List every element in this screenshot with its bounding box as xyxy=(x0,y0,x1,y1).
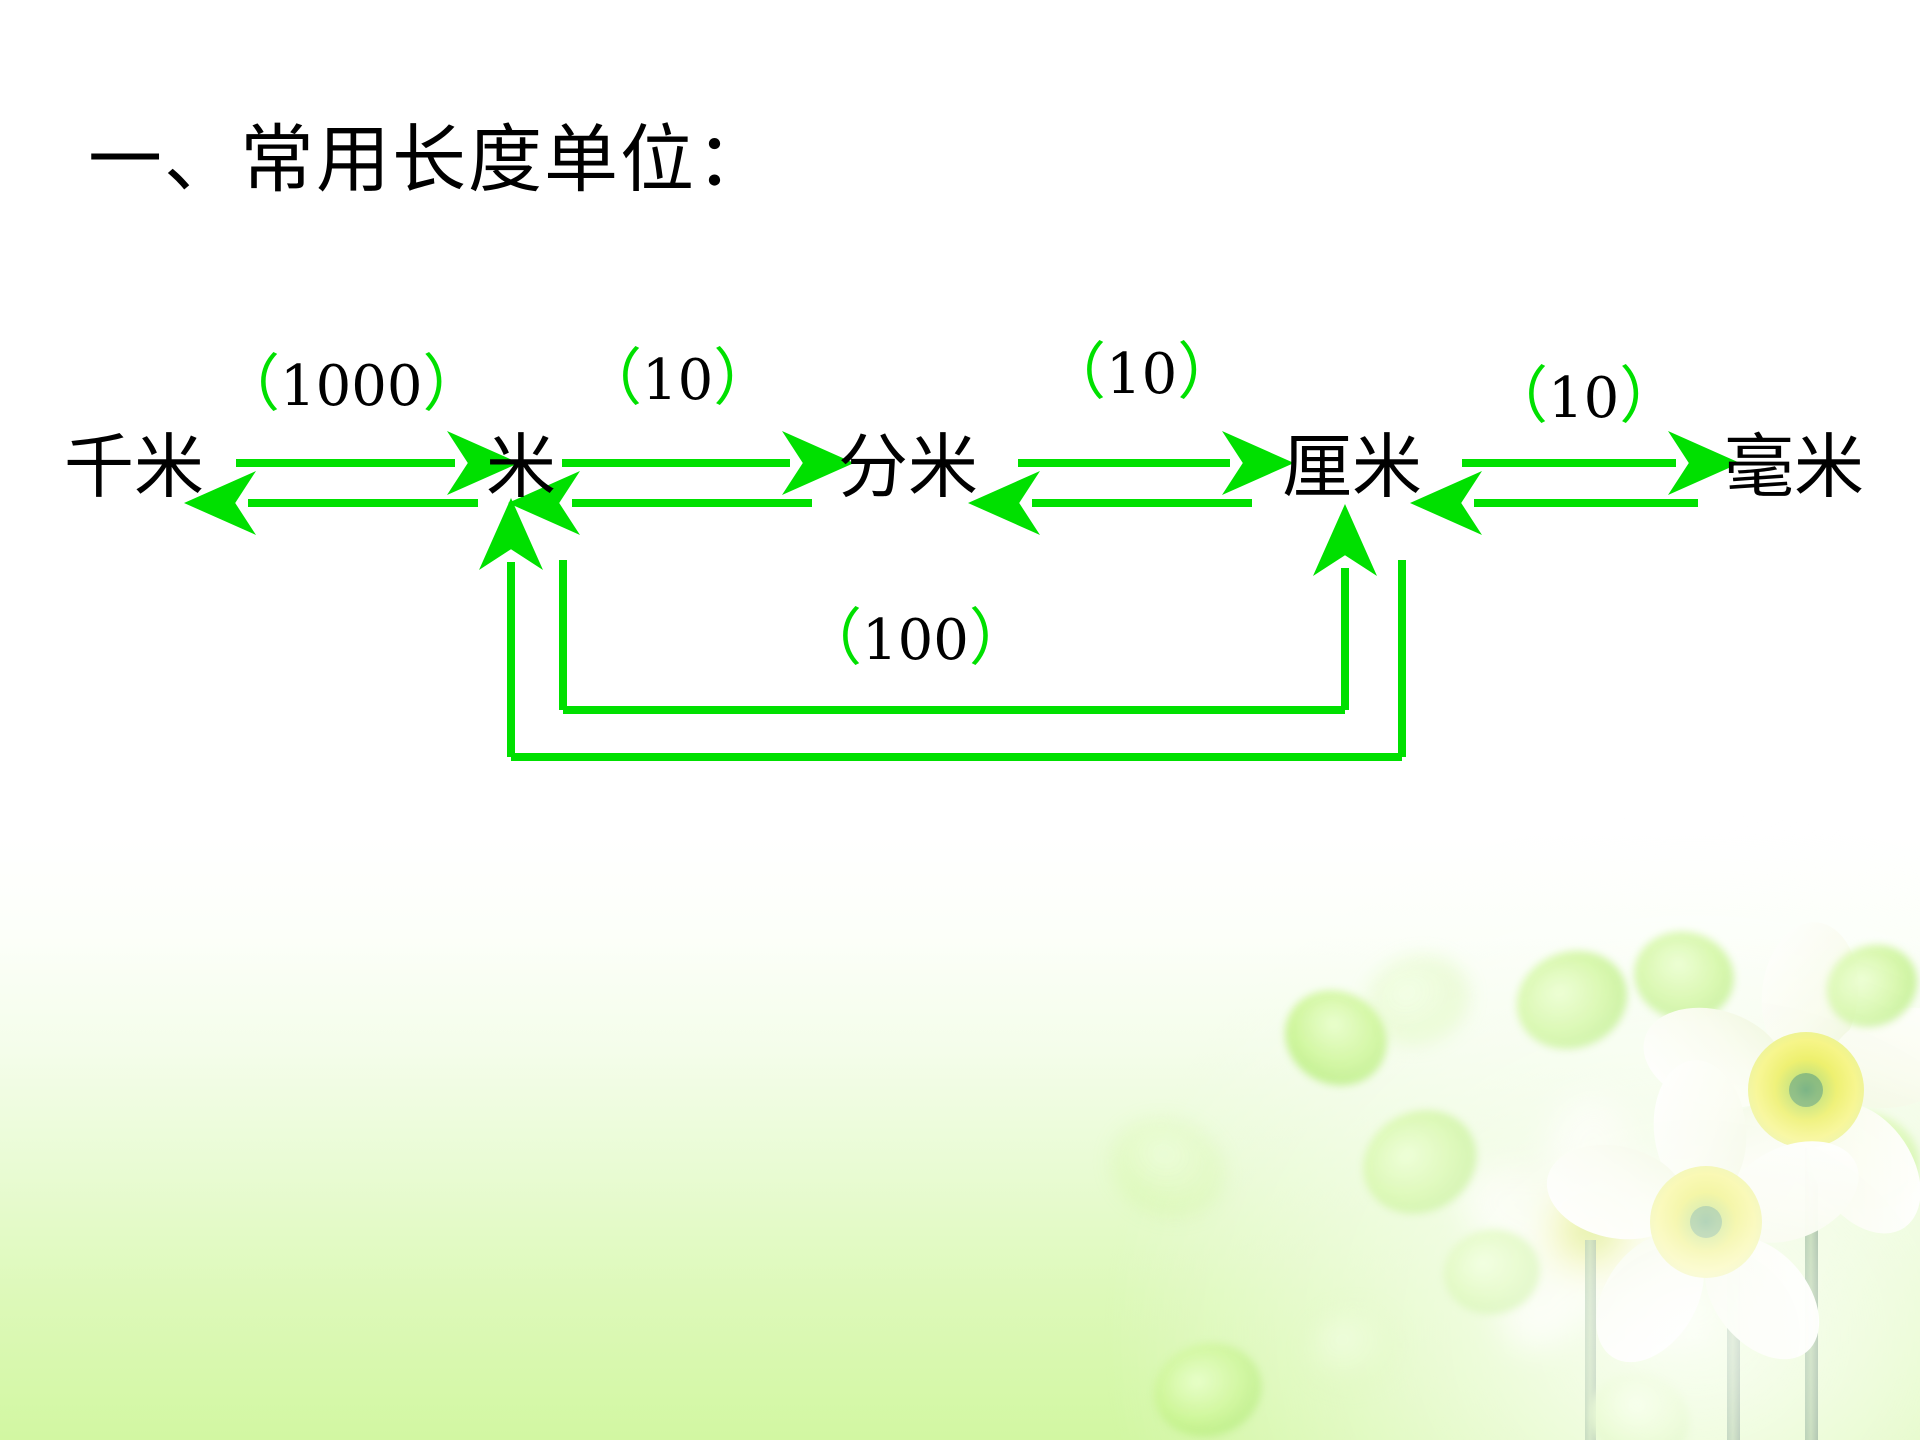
factor-value-m-dm: 10 xyxy=(642,348,713,413)
factor-label-bracket-100: （100） xyxy=(800,610,1031,669)
factor-value-km-m: 1000 xyxy=(280,354,423,419)
unit-node-centimeter: 厘米 xyxy=(1282,432,1422,502)
factor-label-m-dm: （10） xyxy=(580,350,775,409)
unit-node-millimeter: 毫米 xyxy=(1724,432,1864,502)
factor-close-paren-m-dm: ） xyxy=(713,341,775,414)
unit-conversion-diagram: 千米 米 分米 厘米 毫米 （1000） （10） （10） （10） （100… xyxy=(0,0,1920,1440)
factor-open-paren-cm-mm: （ xyxy=(1486,359,1548,432)
factor-label-cm-mm: （10） xyxy=(1486,368,1681,427)
factor-label-km-m: （1000） xyxy=(218,356,485,415)
factor-open-paren-bracket: （ xyxy=(800,601,862,674)
unit-node-decimeter: 分米 xyxy=(838,432,978,502)
factor-close-paren-km-m: ） xyxy=(423,347,485,420)
unit-node-kilometer: 千米 xyxy=(64,432,204,502)
factor-open-paren-dm-cm: （ xyxy=(1044,335,1106,408)
factor-close-paren-cm-mm: ） xyxy=(1619,359,1681,432)
factor-value-cm-mm: 10 xyxy=(1548,366,1619,431)
unit-node-meter: 米 xyxy=(486,432,556,502)
factor-close-paren-dm-cm: ） xyxy=(1177,335,1239,408)
slide-canvas: 一、常用长度单位： xyxy=(0,0,1920,1440)
factor-close-paren-bracket: ） xyxy=(969,601,1031,674)
arrow-layer xyxy=(0,0,1920,1440)
factor-value-bracket: 100 xyxy=(862,608,969,673)
factor-value-dm-cm: 10 xyxy=(1106,342,1177,407)
factor-open-paren-m-dm: （ xyxy=(580,341,642,414)
factor-open-paren-km-m: （ xyxy=(218,347,280,420)
factor-label-dm-cm: （10） xyxy=(1044,344,1239,403)
